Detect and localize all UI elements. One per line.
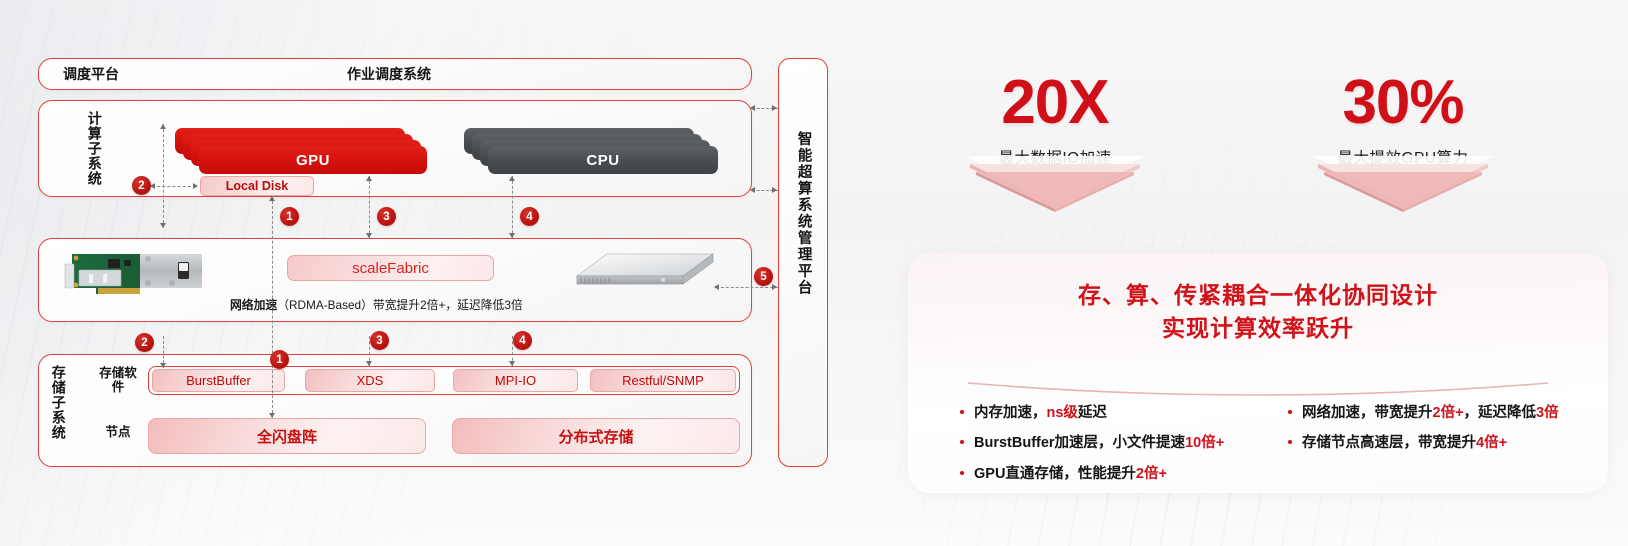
- bullet-text: 存储节点高速层，带宽提升: [1302, 435, 1476, 451]
- badge-3b: 3: [370, 331, 389, 350]
- connector-1-arrow-down: [269, 413, 275, 418]
- network-acceleration-caption-bold: 网络加速: [230, 298, 277, 312]
- badge-1b: 1: [270, 350, 289, 369]
- storage-node-distributed-storage: 分布式存储: [452, 418, 740, 454]
- storage-node-row-label: 节点: [95, 425, 141, 439]
- connector-5-horizontal: [716, 287, 778, 288]
- scalefabric-pill: scaleFabric: [287, 255, 494, 281]
- badge-4b: 4: [513, 331, 532, 350]
- bullet-text: BurstBuffer加速层，小文件提速: [974, 435, 1185, 451]
- connector-mgmt-mid-arrow-r: [772, 187, 777, 193]
- bullet-right-1: 网络加速，带宽提升2倍+，延迟降低3倍: [1286, 401, 1586, 426]
- badge-5: 5: [754, 267, 773, 286]
- network-acceleration-caption: 网络加速（RDMA-Based）带宽提升2倍+，延迟降低3倍: [230, 296, 523, 313]
- connector-4-arrow-down: [509, 233, 515, 238]
- bullet-highlight: 2倍+: [1433, 405, 1464, 421]
- gpu-node-stack: GPU: [175, 128, 427, 174]
- management-platform-label: 智能超算系统管理平台: [795, 131, 810, 296]
- gpu-label: GPU: [199, 146, 427, 174]
- connector-4b-arrow-down: [509, 361, 515, 366]
- local-disk-pill: Local Disk: [200, 176, 314, 196]
- badge-4: 4: [520, 207, 539, 226]
- storage-software-burstbuffer: BurstBuffer: [152, 369, 285, 392]
- bullet-text: 延迟: [1078, 405, 1107, 421]
- badge-2b: 2: [135, 333, 154, 352]
- connector-4-arrow-up: [509, 176, 515, 181]
- bullet-highlight: ns级: [1047, 405, 1078, 421]
- highlight-title-line-2: 实现计算效率跃升: [908, 312, 1608, 345]
- storage-node-all-flash-array: 全闪盘阵: [148, 418, 426, 454]
- rack-server-icon: [575, 250, 715, 294]
- highlight-card-title: 存、算、传紧耦合一体化协同设计 实现计算效率跃升: [908, 279, 1608, 346]
- storage-software-row-label: 存储软件: [95, 366, 141, 395]
- job-scheduling-system-label: 作业调度系统: [347, 64, 431, 84]
- pedestal-shape-1: [930, 150, 1180, 212]
- stat-number-2: 30%: [1278, 72, 1528, 134]
- management-platform-panel: 智能超算系统管理平台: [778, 58, 828, 467]
- cpu-node-stack: CPU: [464, 128, 718, 174]
- compute-subsystem-label: 计算子系统: [87, 111, 102, 186]
- highlight-card: 存、算、传紧耦合一体化协同设计 实现计算效率跃升 内存加速，ns级延迟Burst…: [908, 253, 1608, 493]
- bullet-text: ，延迟降低: [1464, 405, 1537, 421]
- connector-mgmt-top-arrow-r: [772, 105, 777, 111]
- scheduler-platform-bar: 调度平台 作业调度系统: [38, 58, 752, 90]
- bullet-left-1: 内存加速，ns级延迟: [958, 401, 1268, 426]
- bullet-highlight: 3倍: [1536, 405, 1559, 421]
- bullet-right-2: 存储节点高速层，带宽提升4倍+: [1286, 431, 1586, 456]
- connector-3-arrow-up: [366, 176, 372, 181]
- badge-2: 2: [132, 176, 151, 195]
- cpu-label: CPU: [488, 146, 718, 174]
- storage-software-xds: XDS: [305, 369, 435, 392]
- connector-2-arrow-up: [160, 124, 166, 129]
- stat-number-1: 20X: [930, 72, 1180, 134]
- storage-software-restful-snmp: Restful/SNMP: [590, 369, 736, 392]
- architecture-diagram: 调度平台 作业调度系统 计算子系统 GPU CPU Local Disk: [0, 0, 860, 546]
- badge-3: 3: [377, 207, 396, 226]
- bullet-text: 网络加速，带宽提升: [1302, 405, 1433, 421]
- connector-2-vertical-top: [163, 124, 164, 228]
- connector-2-horizontal: [152, 186, 196, 187]
- network-card-icon: [62, 248, 208, 302]
- scheduler-platform-label: 调度平台: [63, 64, 119, 84]
- bullet-highlight: 10倍+: [1185, 435, 1224, 451]
- bullet-list-left: 内存加速，ns级延迟BurstBuffer加速层，小文件提速10倍+GPU直通存…: [958, 401, 1268, 492]
- connector-2-arrow-right: [193, 183, 198, 189]
- bullet-highlight: 4倍+: [1476, 435, 1507, 451]
- connector-mgmt-top-arrow-l: [750, 105, 755, 111]
- stat-card-gpu-efficiency: 30% 最大提效GPU算力: [1278, 72, 1528, 168]
- bullet-left-2: BurstBuffer加速层，小文件提速10倍+: [958, 431, 1268, 456]
- connector-mgmt-mid-arrow-l: [750, 187, 755, 193]
- network-acceleration-caption-rest: （RDMA-Based）带宽提升2倍+，延迟降低3倍: [277, 298, 522, 312]
- bullet-text: GPU直通存储，性能提升: [974, 466, 1136, 482]
- badge-1: 1: [280, 207, 299, 226]
- storage-software-mpi-io: MPI-IO: [453, 369, 578, 392]
- highlight-title-line-1: 存、算、传紧耦合一体化协同设计: [908, 279, 1608, 312]
- connector-2-arrow-down: [160, 223, 166, 228]
- connector-1-vertical: [272, 196, 273, 418]
- bullet-list-right: 网络加速，带宽提升2倍+，延迟降低3倍存储节点高速层，带宽提升4倍+: [1286, 401, 1586, 462]
- connector-3b-arrow-down: [366, 361, 372, 366]
- stat-card-io-acceleration: 20X 最大数据IO加速: [930, 72, 1180, 168]
- pedestal-shape-2: [1278, 150, 1528, 212]
- connector-5-arrow-r: [772, 284, 777, 290]
- title-divider-arc: [968, 381, 1548, 403]
- storage-subsystem-label: 存储子系统: [51, 365, 66, 440]
- bullet-text: 内存加速，: [974, 405, 1047, 421]
- connector-3-arrow-down: [366, 233, 372, 238]
- bullet-left-3: GPU直通存储，性能提升2倍+: [958, 462, 1268, 487]
- connector-3-vertical-top: [369, 176, 370, 238]
- connector-1-arrow-up: [269, 196, 275, 201]
- bullet-highlight: 2倍+: [1136, 466, 1167, 482]
- connector-4-vertical-top: [512, 176, 513, 238]
- connector-2b-arrow-down: [160, 363, 166, 368]
- connector-5-arrow-l: [714, 284, 719, 290]
